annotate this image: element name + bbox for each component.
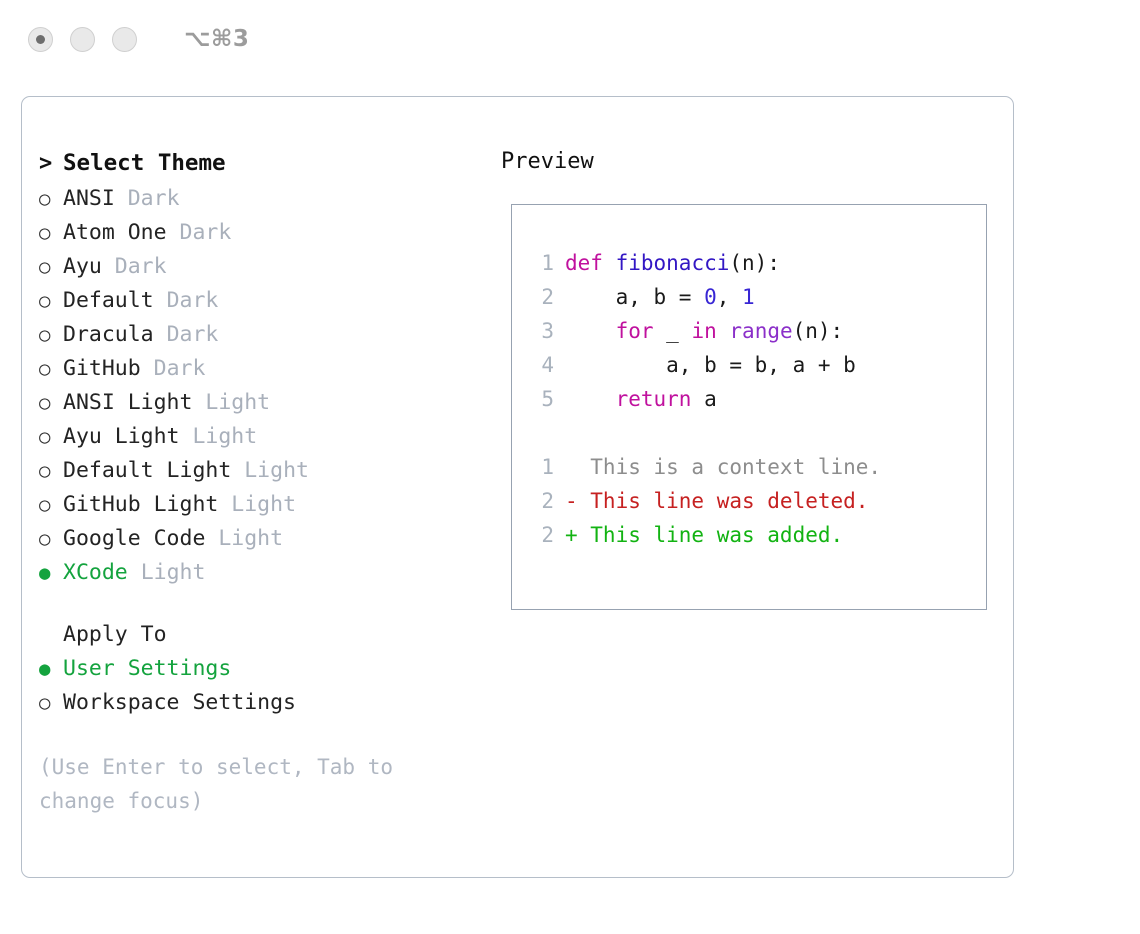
diff-line-text: - This line was deleted. <box>565 484 868 518</box>
theme-list-item[interactable]: ○GitHub Light Light <box>39 488 479 522</box>
theme-gap <box>192 386 205 420</box>
title-bar: ⌥⌘3 <box>0 0 1140 78</box>
theme-name: Atom One <box>63 216 167 250</box>
code-token: def <box>565 251 603 275</box>
window-controls <box>28 27 137 52</box>
preview-title: Preview <box>501 145 1001 179</box>
code-token: a <box>691 387 716 411</box>
code-line-text: def fibonacci(n): <box>565 246 780 280</box>
code-line-text: a, b = b, a + b <box>565 348 856 382</box>
theme-variant: Dark <box>167 318 219 352</box>
radio-unselected-icon: ○ <box>39 420 63 454</box>
theme-list-item[interactable]: ○Default Dark <box>39 284 479 318</box>
radio-selected-icon: ● <box>39 652 63 686</box>
theme-variant: Light <box>205 386 270 420</box>
theme-gap <box>218 488 231 522</box>
apply-to-heading: oApply To <box>39 618 479 652</box>
theme-list-item[interactable]: ○Dracula Dark <box>39 318 479 352</box>
radio-unselected-icon: ○ <box>39 386 63 420</box>
code-token: a, b = b, a + b <box>565 353 856 377</box>
theme-name: Ayu <box>63 250 102 284</box>
theme-name: Dracula <box>63 318 154 352</box>
code-preview-area: 1def fibonacci(n):2 a, b = 0, 13 for _ i… <box>522 246 972 552</box>
cursor-caret-icon: > <box>39 146 63 182</box>
code-token: in <box>691 319 716 343</box>
radio-unselected-icon: ○ <box>39 216 63 250</box>
theme-name: Ayu Light <box>63 420 180 454</box>
theme-variant: Light <box>231 488 296 522</box>
theme-selector-column: >Select Theme ○ANSI Dark○Atom One Dark○A… <box>39 145 479 818</box>
keyboard-hint: (Use Enter to select, Tab to change focu… <box>39 750 459 818</box>
diff-line-text: This is a context line. <box>565 450 881 484</box>
theme-gap <box>141 352 154 386</box>
theme-variant: Light <box>244 454 309 488</box>
radio-unselected-icon: ○ <box>39 284 63 318</box>
theme-gap <box>115 182 128 216</box>
theme-name: ANSI Light <box>63 386 192 420</box>
theme-variant: Dark <box>154 352 206 386</box>
code-token <box>565 387 616 411</box>
theme-name: GitHub <box>63 352 141 386</box>
theme-variant: Dark <box>128 182 180 216</box>
theme-gap <box>154 318 167 352</box>
code-token: _ <box>654 319 692 343</box>
code-token: for <box>616 319 654 343</box>
theme-gap <box>180 420 193 454</box>
preview-column: Preview <box>501 145 1001 179</box>
theme-list-item[interactable]: ○Ayu Dark <box>39 250 479 284</box>
code-line-text: a, b = 0, 1 <box>565 280 755 314</box>
radio-unselected-icon: ○ <box>39 352 63 386</box>
theme-gap <box>154 284 167 318</box>
code-token: return <box>616 387 692 411</box>
theme-gap <box>205 522 218 556</box>
line-number: 4 <box>522 348 565 382</box>
theme-name: Default <box>63 284 154 318</box>
theme-gap <box>231 454 244 488</box>
code-line: 5 return a <box>522 382 972 416</box>
radio-selected-icon: ● <box>39 556 63 590</box>
code-token: 1 <box>742 285 755 309</box>
radio-unselected-icon: ○ <box>39 488 63 522</box>
theme-list-item[interactable]: ○Atom One Dark <box>39 216 479 250</box>
code-sample: 1def fibonacci(n):2 a, b = 0, 13 for _ i… <box>522 246 972 416</box>
theme-name: ANSI <box>63 182 115 216</box>
radio-unselected-icon: ○ <box>39 318 63 352</box>
code-token <box>717 319 730 343</box>
radio-unselected-icon: ○ <box>39 250 63 284</box>
code-token: range <box>729 319 792 343</box>
theme-gap <box>102 250 115 284</box>
code-line: 4 a, b = b, a + b <box>522 348 972 382</box>
code-diff-spacer <box>522 416 972 450</box>
code-line: 3 for _ in range(n): <box>522 314 972 348</box>
theme-list-item[interactable]: ○Default Light Light <box>39 454 479 488</box>
theme-list-item[interactable]: ○ANSI Dark <box>39 182 479 216</box>
apply-to-option[interactable]: ●User Settings <box>39 652 479 686</box>
theme-list-item[interactable]: ○GitHub Dark <box>39 352 479 386</box>
select-theme-heading-label: Select Theme <box>63 145 226 181</box>
section-spacer <box>39 590 479 618</box>
radio-unselected-icon: ○ <box>39 522 63 556</box>
app-window: ⌥⌘3 >Select Theme ○ANSI Dark○Atom One Da… <box>0 0 1140 934</box>
code-line-text: for _ in range(n): <box>565 314 843 348</box>
code-token: , <box>717 285 742 309</box>
line-number: 1 <box>522 450 565 484</box>
window-control-dot-3[interactable] <box>112 27 137 52</box>
line-number: 3 <box>522 314 565 348</box>
theme-list-item[interactable]: ●XCode Light <box>39 556 479 590</box>
theme-variant: Dark <box>180 216 232 250</box>
main-panel: >Select Theme ○ANSI Dark○Atom One Dark○A… <box>21 96 1014 878</box>
apply-to-option-label: User Settings <box>63 652 231 686</box>
line-number: 1 <box>522 246 565 280</box>
code-token: (n): <box>793 319 844 343</box>
code-token: 0 <box>704 285 717 309</box>
theme-list: ○ANSI Dark○Atom One Dark○Ayu Dark○Defaul… <box>39 182 479 590</box>
theme-variant: Light <box>192 420 257 454</box>
line-number: 5 <box>522 382 565 416</box>
theme-name: XCode <box>63 556 128 590</box>
theme-gap <box>128 556 141 590</box>
apply-to-marker-spacer: o <box>39 618 63 652</box>
theme-list-item[interactable]: ○Ayu Light Light <box>39 420 479 454</box>
theme-name: GitHub Light <box>63 488 218 522</box>
radio-unselected-icon: ○ <box>39 686 63 720</box>
theme-list-item[interactable]: ○Google Code Light <box>39 522 479 556</box>
theme-name: Default Light <box>63 454 231 488</box>
diff-line: 2- This line was deleted. <box>522 484 972 518</box>
code-token: (n): <box>729 251 780 275</box>
diff-line-text: + This line was added. <box>565 518 843 552</box>
theme-name: Google Code <box>63 522 205 556</box>
apply-to-heading-label: Apply To <box>63 618 167 652</box>
apply-to-option[interactable]: ○Workspace Settings <box>39 686 479 720</box>
theme-variant: Dark <box>167 284 219 318</box>
active-indicator-icon <box>36 35 45 44</box>
theme-variant: Dark <box>115 250 167 284</box>
theme-variant: Light <box>141 556 206 590</box>
line-number: 2 <box>522 518 565 552</box>
line-number: 2 <box>522 280 565 314</box>
apply-to-options: ●User Settings○Workspace Settings <box>39 652 479 720</box>
diff-line: 1 This is a context line. <box>522 450 972 484</box>
diff-line: 2+ This line was added. <box>522 518 972 552</box>
code-token <box>603 251 616 275</box>
code-token <box>565 319 616 343</box>
select-theme-heading: >Select Theme <box>39 145 479 182</box>
theme-list-item[interactable]: ○ANSI Light Light <box>39 386 479 420</box>
keyboard-shortcut-label: ⌥⌘3 <box>184 26 249 52</box>
theme-gap <box>167 216 180 250</box>
radio-unselected-icon: ○ <box>39 454 63 488</box>
line-number: 2 <box>522 484 565 518</box>
code-token: a, b = <box>565 285 704 309</box>
code-line-text: return a <box>565 382 717 416</box>
window-control-dot-1[interactable] <box>28 27 53 52</box>
apply-to-option-label: Workspace Settings <box>63 686 296 720</box>
code-line: 1def fibonacci(n): <box>522 246 972 280</box>
window-control-dot-2[interactable] <box>70 27 95 52</box>
code-token: fibonacci <box>616 251 730 275</box>
theme-variant: Light <box>218 522 283 556</box>
radio-unselected-icon: ○ <box>39 182 63 216</box>
diff-sample: 1 This is a context line.2- This line wa… <box>522 450 972 552</box>
code-line: 2 a, b = 0, 1 <box>522 280 972 314</box>
preview-box: 1def fibonacci(n):2 a, b = 0, 13 for _ i… <box>511 204 987 610</box>
